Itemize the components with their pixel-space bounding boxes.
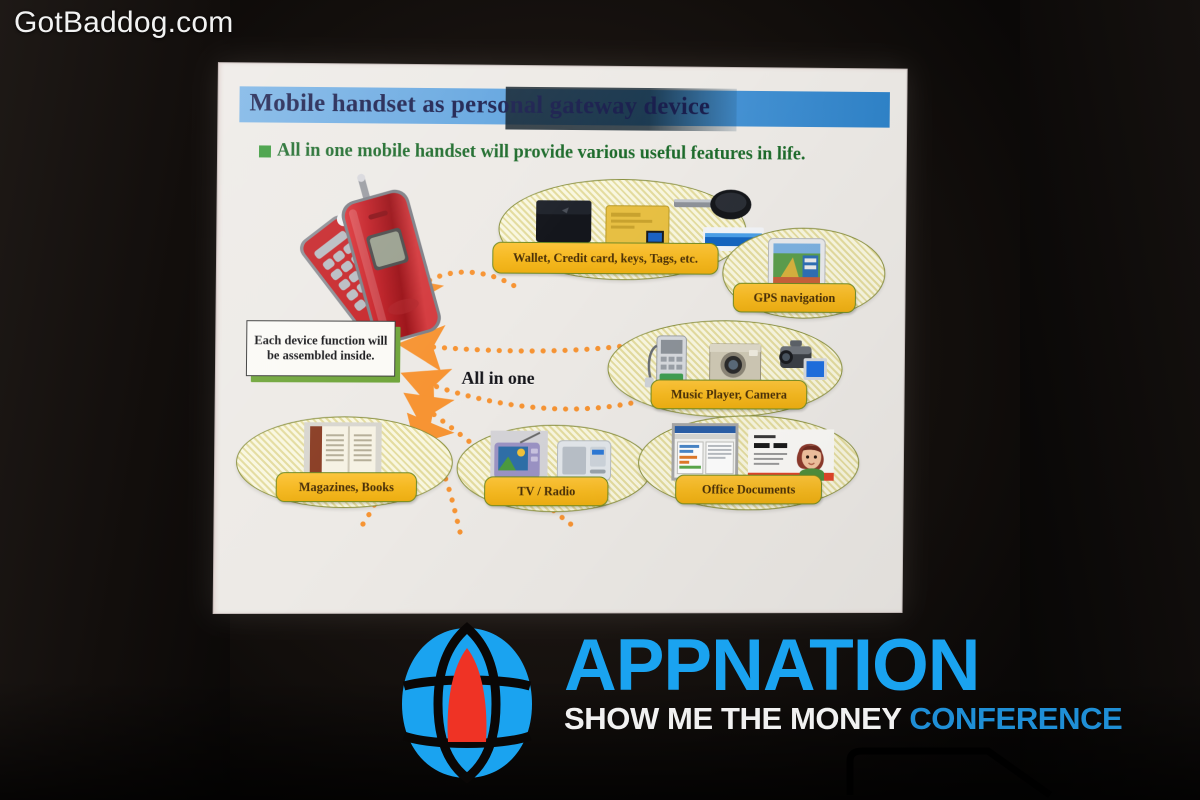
all-in-one-label: All in one: [461, 368, 534, 389]
screenshot-root: GotBaddog.com Mobile handset as personal…: [0, 0, 1200, 800]
appnation-sphere-icon: [392, 624, 542, 782]
wallet-image: [532, 194, 596, 246]
diagram-canvas: All in one: [213, 172, 907, 614]
car-key-image: [674, 189, 753, 225]
projection-screen: Mobile handset as personal gateway devic…: [201, 56, 920, 622]
watermark: GotBaddog.com: [14, 6, 233, 40]
business-card-avatar-image: [748, 429, 834, 481]
appnation-wordmark: APPNATION SHOW ME THE MONEY CONFERENCE: [564, 632, 1122, 737]
chip-office[interactable]: Office Documents: [675, 475, 822, 505]
tagline-primary: SHOW ME THE MONEY: [564, 701, 901, 736]
note-box: Each device function will be assembled i…: [246, 320, 396, 376]
appnation-logo: APPNATION SHOW ME THE MONEY CONFERENCE: [392, 620, 1032, 785]
appnation-tagline: SHOW ME THE MONEY CONFERENCE: [564, 701, 1122, 737]
slide: Mobile handset as personal gateway devic…: [213, 62, 908, 614]
chip-music[interactable]: Music Player, Camera: [650, 379, 807, 409]
tagline-secondary: CONFERENCE: [909, 701, 1122, 736]
chip-gps[interactable]: GPS navigation: [733, 283, 856, 313]
chip-wallet[interactable]: Wallet, Credit card, keys, Tags, etc.: [492, 242, 719, 275]
chip-tvradio[interactable]: TV / Radio: [484, 476, 609, 506]
slide-bullet-row: All in one mobile handset will provide v…: [259, 140, 806, 165]
slide-title: Mobile handset as personal gateway devic…: [249, 84, 890, 127]
slide-bullet-text: All in one mobile handset will provide v…: [277, 141, 806, 166]
chip-books[interactable]: Magazines, Books: [276, 472, 417, 502]
appnation-name: APPNATION: [564, 632, 1122, 699]
spreadsheet-window-image: [671, 423, 738, 481]
bullet-square-icon: [259, 145, 271, 157]
